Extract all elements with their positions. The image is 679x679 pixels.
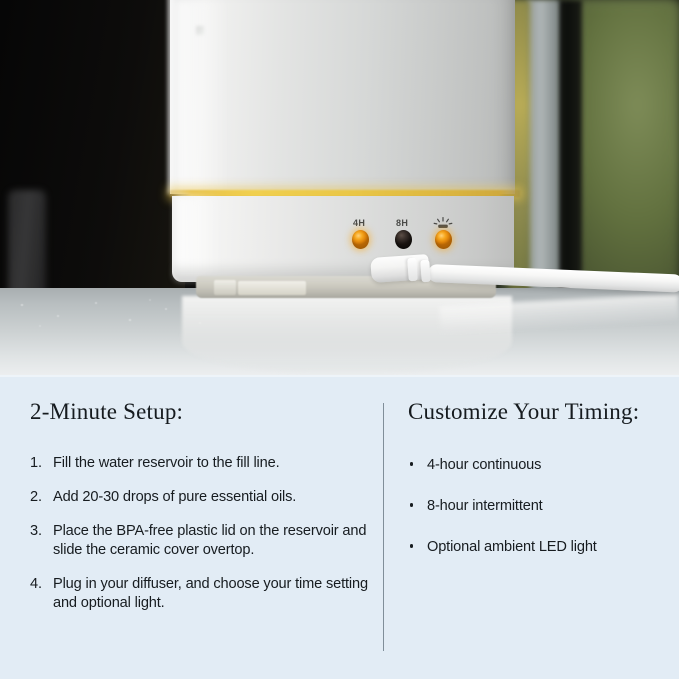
step-number: 2. xyxy=(30,488,42,507)
button-label-4h: 4H xyxy=(353,218,365,228)
lamp-icon xyxy=(432,217,454,230)
timing-column: Customize Your Timing: 4-hour continuous… xyxy=(408,399,670,579)
step-text: Plug in your diffuser, and choose your t… xyxy=(53,576,368,611)
window-frame-light xyxy=(527,0,559,300)
timing-heading: Customize Your Timing: xyxy=(408,399,670,424)
list-item: 4-hour continuous xyxy=(408,456,670,475)
product-info-graphic: 4H 8H 2-Minute Setup: xyxy=(0,0,679,679)
step-number: 4. xyxy=(30,575,42,594)
step-text: Fill the water reservoir to the fill lin… xyxy=(53,455,279,471)
list-item: Optional ambient LED light xyxy=(408,538,670,557)
power-cable-ring-2 xyxy=(420,260,431,283)
list-item: 1. Fill the water reservoir to the fill … xyxy=(30,454,370,473)
diffuser-foot-slot xyxy=(238,281,306,295)
foliage-background xyxy=(575,0,679,300)
step-text: Place the BPA-free plastic lid on the re… xyxy=(53,523,366,558)
background-object-silhouette xyxy=(8,190,46,302)
ceramic-cover-left-edge xyxy=(168,0,176,194)
bullet-dot-icon xyxy=(410,503,413,506)
bullet-dot-icon xyxy=(410,544,413,547)
ceramic-cover-nick xyxy=(196,26,204,35)
list-item: 3. Place the BPA-free plastic lid on the… xyxy=(30,522,370,560)
button-label-8h: 8H xyxy=(396,218,408,228)
setup-steps-list: 1. Fill the water reservoir to the fill … xyxy=(30,454,370,613)
list-item: 4. Plug in your diffuser, and choose you… xyxy=(30,575,370,613)
power-cable-ring-1 xyxy=(407,258,418,282)
bullet-dot-icon xyxy=(410,462,413,465)
timing-bullets-list: 4-hour continuous 8-hour intermittent Op… xyxy=(408,456,670,557)
info-panel: 2-Minute Setup: 1. Fill the water reserv… xyxy=(0,375,679,679)
product-photo: 4H 8H xyxy=(0,0,679,375)
bullet-text: 8-hour intermittent xyxy=(427,498,543,514)
list-item: 8-hour intermittent xyxy=(408,497,670,516)
setup-column: 2-Minute Setup: 1. Fill the water reserv… xyxy=(30,399,370,628)
list-item: 2. Add 20-30 drops of pure essential oil… xyxy=(30,488,370,507)
bullet-text: Optional ambient LED light xyxy=(427,539,597,555)
button-led-light[interactable] xyxy=(435,230,452,249)
column-divider xyxy=(383,403,384,651)
step-number: 3. xyxy=(30,522,42,541)
step-text: Add 20-30 drops of pure essential oils. xyxy=(53,489,296,505)
button-4h[interactable] xyxy=(352,230,369,249)
step-number: 1. xyxy=(30,454,42,473)
panel-top-divider xyxy=(0,375,679,377)
setup-heading: 2-Minute Setup: xyxy=(30,399,370,424)
window-frame-dark xyxy=(556,0,582,300)
diffuser-foot-slot-left xyxy=(214,280,236,295)
button-8h[interactable] xyxy=(395,230,412,249)
bullet-text: 4-hour continuous xyxy=(427,457,541,473)
